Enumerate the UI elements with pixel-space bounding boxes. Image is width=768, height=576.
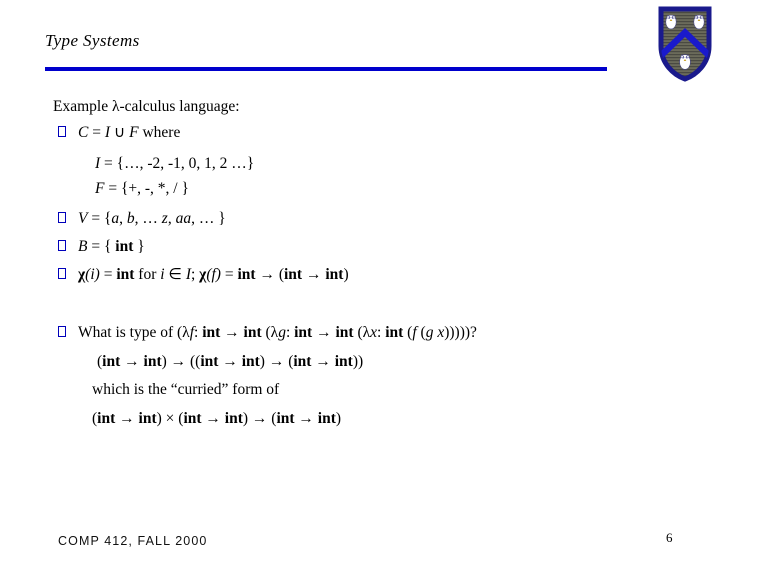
bullet-line-2: V = {a, b, … z, aa, … } bbox=[78, 210, 226, 227]
presentation-slide: Type Systems bbox=[0, 0, 768, 576]
bullet-marker-2 bbox=[58, 212, 66, 223]
bullet-line-4: χ(i) = int for i ∈ I; χ(f) = int → (int … bbox=[78, 266, 349, 283]
bullet-marker-1 bbox=[58, 126, 66, 137]
intro-line: Example λ-calculus language: bbox=[53, 98, 240, 115]
page-number: 6 bbox=[666, 530, 673, 546]
rice-university-shield-logo bbox=[658, 6, 712, 82]
bullet-marker-5 bbox=[58, 326, 66, 337]
bullet-marker-4 bbox=[58, 268, 66, 279]
bullet-line-1: C = I ∪ F where bbox=[78, 124, 180, 141]
bullet-marker-3 bbox=[58, 240, 66, 251]
slide-title: Type Systems bbox=[45, 31, 140, 51]
bullet-1-subline-2: F = {+, -, *, / } bbox=[95, 180, 189, 197]
shield-icon bbox=[658, 6, 712, 82]
bullet-5-subline-2: which is the “curried” form of bbox=[92, 381, 279, 398]
bullet-1-subline-1: I = {…, -2, -1, 0, 1, 2 …} bbox=[95, 155, 254, 172]
footer-course-label: COMP 412, FALL 2000 bbox=[58, 534, 207, 548]
bullet-5-subline-1: (int → int) → ((int → int) → (int → int)… bbox=[97, 353, 363, 370]
bullet-line-5: What is type of (λf: int → int (λg: int … bbox=[78, 324, 477, 341]
bullet-line-3: B = { int } bbox=[78, 238, 145, 255]
title-underline-rule bbox=[45, 67, 607, 71]
bullet-5-subline-3: (int → int) × (int → int) → (int → int) bbox=[92, 410, 341, 427]
